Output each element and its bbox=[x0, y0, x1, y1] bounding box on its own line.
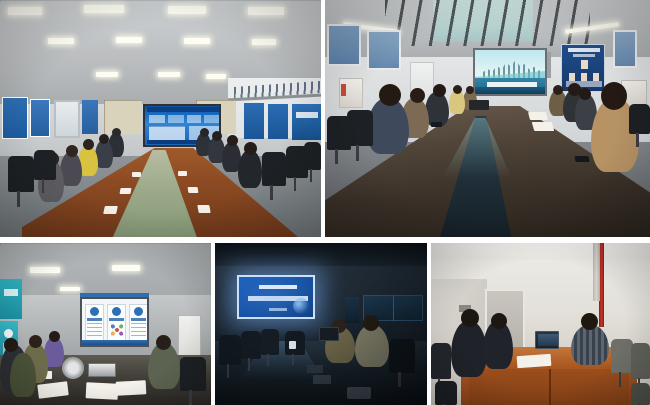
chair bbox=[611, 339, 633, 373]
attendee-head bbox=[466, 86, 474, 94]
screen-mount-rail bbox=[80, 293, 149, 297]
attendee bbox=[451, 321, 487, 377]
laptop bbox=[535, 331, 559, 349]
table-nameplate bbox=[103, 206, 118, 214]
ceiling-lamp bbox=[248, 7, 284, 15]
attendee bbox=[355, 325, 389, 367]
wall-pipe-grey bbox=[593, 243, 600, 301]
dashboard-tile bbox=[187, 115, 201, 123]
slide-column-text bbox=[87, 323, 102, 339]
attendee bbox=[367, 98, 409, 154]
chair bbox=[631, 383, 650, 405]
slide-icon-circle bbox=[90, 307, 99, 316]
photo-panel-bottom-right[interactable] bbox=[431, 243, 650, 405]
wall-board-left bbox=[30, 99, 50, 137]
poster-node bbox=[593, 73, 599, 81]
chair bbox=[431, 343, 451, 379]
ceiling-lamp bbox=[112, 265, 140, 271]
window-red-marker bbox=[341, 84, 346, 96]
attendee-head bbox=[83, 139, 94, 150]
attendee-head bbox=[112, 128, 121, 137]
banner-emblem bbox=[4, 329, 13, 338]
attendee-head bbox=[99, 134, 109, 144]
dashboard-header bbox=[147, 107, 221, 112]
window-blind bbox=[327, 24, 361, 66]
dashboard-tile bbox=[168, 115, 184, 123]
wall-photo-panel bbox=[345, 297, 359, 323]
attendee-head bbox=[212, 131, 222, 141]
window-blind bbox=[367, 30, 401, 70]
wall-photo-panel-divider bbox=[393, 295, 394, 321]
certificate-wall-grid bbox=[104, 100, 142, 134]
laptop bbox=[469, 100, 489, 110]
attendee-head bbox=[453, 85, 462, 94]
chair bbox=[629, 104, 650, 134]
slide-icon-circle bbox=[134, 307, 143, 316]
attendee-head bbox=[200, 128, 209, 137]
slide-footer bbox=[82, 340, 147, 345]
attendee-head bbox=[461, 309, 479, 327]
chair bbox=[261, 329, 279, 355]
attendee-head bbox=[601, 82, 627, 110]
chair bbox=[241, 331, 261, 359]
wall-board-left bbox=[82, 100, 98, 134]
slide-footer bbox=[475, 87, 545, 94]
ceiling-lamp bbox=[206, 74, 226, 79]
ceiling-lamp bbox=[84, 5, 124, 13]
attendee-head bbox=[49, 331, 60, 342]
photo-panel-top-right[interactable] bbox=[325, 0, 650, 237]
chair bbox=[34, 150, 56, 180]
poster-title bbox=[573, 54, 595, 57]
slide-column-heading bbox=[87, 318, 102, 321]
wall-mount-bracket bbox=[547, 52, 551, 78]
dashboard-tile bbox=[149, 115, 165, 123]
poster-title bbox=[568, 48, 600, 52]
attendee-head bbox=[227, 135, 238, 146]
chair bbox=[8, 156, 34, 192]
chair bbox=[631, 343, 650, 379]
photo-panel-bottom-left[interactable] bbox=[0, 243, 211, 405]
photo-panel-bottom-center[interactable] bbox=[215, 243, 427, 405]
table-document bbox=[532, 122, 555, 131]
projection-screen[interactable] bbox=[473, 48, 547, 96]
poster-node bbox=[581, 60, 588, 69]
slide-icon-circle bbox=[112, 307, 121, 316]
ceiling-lamp bbox=[96, 72, 118, 77]
slide-column-heading bbox=[131, 318, 146, 321]
window-blind bbox=[613, 30, 637, 68]
poster-node bbox=[569, 73, 575, 81]
projection-screen[interactable] bbox=[80, 297, 149, 347]
table-item bbox=[307, 365, 323, 373]
table-ashtray bbox=[347, 387, 371, 399]
chair bbox=[389, 339, 415, 373]
ceiling-lamp bbox=[60, 287, 80, 291]
ceiling-lamp bbox=[116, 37, 142, 43]
wall-board-right bbox=[244, 103, 264, 139]
ceiling-lamp bbox=[184, 38, 210, 44]
table-nameplate bbox=[178, 171, 187, 176]
wall-board-left bbox=[2, 97, 28, 139]
wall-board-right bbox=[268, 104, 288, 139]
ceiling-lamp bbox=[8, 7, 42, 15]
attendee bbox=[10, 353, 36, 397]
slide-column-text bbox=[131, 323, 146, 339]
slide-diagram bbox=[111, 324, 123, 336]
slide-column-heading bbox=[109, 318, 124, 321]
attendee-head bbox=[66, 145, 78, 157]
desk-panel-seam bbox=[549, 369, 551, 405]
poster-node bbox=[581, 73, 587, 81]
ceiling-beams bbox=[385, 0, 590, 46]
chair bbox=[435, 381, 457, 405]
attendee-head bbox=[553, 85, 563, 95]
table-nameplate bbox=[197, 205, 210, 213]
chair bbox=[219, 335, 241, 365]
wall-banner-left bbox=[0, 279, 22, 319]
attendee-head bbox=[410, 88, 425, 103]
attendee-head bbox=[433, 84, 446, 97]
phone bbox=[574, 156, 589, 162]
chair bbox=[304, 142, 321, 170]
attendee-head bbox=[379, 84, 401, 106]
table-nameplate bbox=[132, 172, 141, 177]
attendee bbox=[571, 325, 609, 365]
attendee-head bbox=[4, 338, 18, 352]
dashboard-tile bbox=[204, 115, 220, 123]
table-cup bbox=[289, 341, 296, 349]
photo-collage bbox=[0, 0, 650, 405]
ceiling-lamp bbox=[30, 267, 60, 273]
laptop bbox=[88, 363, 116, 377]
table-paper bbox=[116, 380, 147, 396]
table-document bbox=[528, 112, 548, 120]
phone bbox=[431, 122, 442, 127]
window-left bbox=[54, 100, 80, 138]
laptop-screen bbox=[538, 334, 558, 346]
photo-panel-top-left[interactable] bbox=[0, 0, 321, 237]
attendee-head bbox=[156, 335, 171, 350]
chair bbox=[327, 116, 351, 150]
desk-paper bbox=[517, 354, 552, 368]
desk-fan bbox=[62, 357, 84, 379]
wall-board-right-title bbox=[296, 112, 318, 118]
table-nameplate bbox=[188, 187, 199, 193]
chair bbox=[180, 357, 206, 391]
table-item bbox=[313, 375, 331, 384]
laptop bbox=[319, 327, 339, 341]
ceiling-lamp bbox=[252, 39, 276, 45]
banner-label bbox=[4, 289, 18, 296]
ceiling-lamp bbox=[48, 38, 74, 44]
attendee-head bbox=[491, 313, 507, 329]
org-chart-poster bbox=[561, 44, 605, 92]
ceiling bbox=[431, 243, 650, 259]
attendee-head bbox=[579, 88, 591, 100]
attendee-head bbox=[244, 142, 257, 155]
attendee-head bbox=[363, 315, 379, 331]
attendee bbox=[238, 150, 262, 188]
wall-board-right bbox=[292, 104, 321, 140]
chair bbox=[262, 152, 286, 186]
attendee-head bbox=[581, 313, 598, 330]
table-paper bbox=[86, 382, 119, 400]
projector-light-spill bbox=[221, 263, 329, 333]
ceiling-lamp bbox=[158, 72, 180, 77]
ceiling-lamp bbox=[168, 6, 206, 14]
attendee-head bbox=[29, 335, 42, 348]
table-nameplate bbox=[119, 188, 131, 194]
